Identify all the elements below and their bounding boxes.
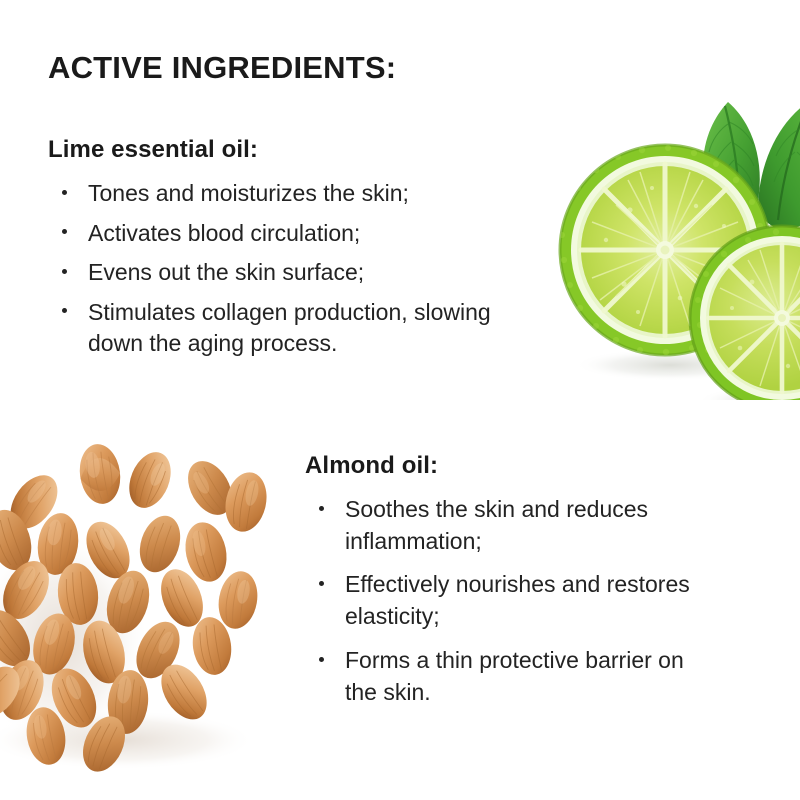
section-lime-subheading: Lime essential oil: — [48, 136, 548, 164]
bullet-dot-icon — [62, 190, 67, 195]
page-title: ACTIVE INGREDIENTS: — [48, 50, 396, 86]
list-item-text: Activates blood circulation; — [88, 220, 360, 246]
section-almond-bullet-list: Soothes the skin and reduces inflammatio… — [305, 494, 705, 708]
almond — [133, 511, 187, 578]
almond — [214, 568, 261, 632]
almond — [220, 468, 272, 535]
list-item-text: Tones and moisturizes the skin; — [88, 180, 409, 206]
list-item: Evens out the skin surface; — [48, 257, 548, 289]
bullet-dot-icon — [319, 657, 324, 662]
list-item: Tones and moisturizes the skin; — [48, 178, 548, 210]
lime-slices-photo — [520, 60, 800, 400]
bullet-dot-icon — [319, 506, 324, 511]
almond — [76, 442, 124, 507]
almond-pile-photo — [0, 440, 300, 780]
lime-leaf-right-icon — [758, 102, 800, 230]
section-almond-subheading: Almond oil: — [305, 452, 705, 480]
bullet-dot-icon — [62, 269, 67, 274]
list-item-text: Evens out the skin surface; — [88, 259, 364, 285]
bullet-dot-icon — [319, 581, 324, 586]
list-item-text: Stimulates collagen production, slowing … — [88, 299, 491, 357]
list-item-text: Forms a thin protective barrier on the s… — [345, 647, 684, 705]
list-item: Effectively nourishes and restores elast… — [305, 569, 705, 632]
list-item: Soothes the skin and reduces inflammatio… — [305, 494, 705, 557]
section-almond: Almond oil: Soothes the skin and reduces… — [305, 452, 705, 720]
list-item-text: Effectively nourishes and restores elast… — [345, 571, 690, 629]
list-item-text: Soothes the skin and reduces inflammatio… — [345, 496, 648, 554]
bullet-dot-icon — [62, 308, 67, 313]
ingredients-infographic: ACTIVE INGREDIENTS: Lime essential oil: … — [0, 0, 800, 800]
list-item: Forms a thin protective barrier on the s… — [305, 645, 705, 708]
list-item: Activates blood circulation; — [48, 218, 548, 250]
bullet-dot-icon — [62, 229, 67, 234]
section-lime-bullet-list: Tones and moisturizes the skin; Activate… — [48, 178, 548, 360]
almond — [122, 446, 179, 514]
list-item: Stimulates collagen production, slowing … — [48, 297, 548, 360]
section-lime: Lime essential oil: Tones and moisturize… — [48, 136, 548, 368]
